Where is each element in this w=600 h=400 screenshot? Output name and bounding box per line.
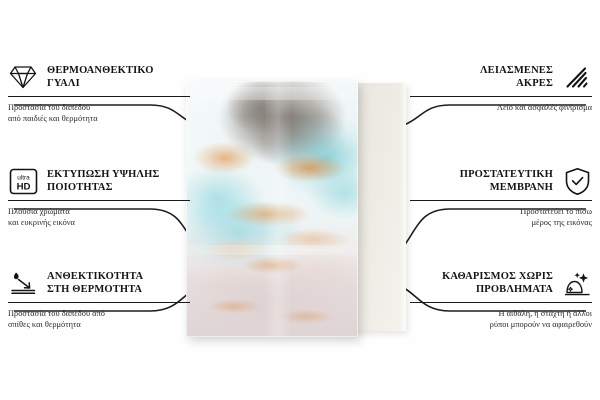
feature-divider xyxy=(410,302,592,303)
feature-high-quality-print: ultra HD ΕΚΤΥΠΩΣΗ ΥΨΗΛΗΣ ΠΟΙΟΤΗΤΑΣ Πλούσ… xyxy=(8,166,190,228)
glass-edge-highlight xyxy=(186,81,358,337)
easy-clean-icon xyxy=(562,268,592,298)
feature-header: ultra HD ΕΚΤΥΠΩΣΗ ΥΨΗΛΗΣ ΠΟΙΟΤΗΤΑΣ xyxy=(8,166,190,196)
feature-divider xyxy=(8,302,190,303)
feature-header: ΘΕΡΜΟΑΝΘΕΚΤΙΚΟ ΓΥΑΛΙ xyxy=(8,62,190,92)
feature-description: Προστατεύει το πίσω μέρος της εικόνας xyxy=(410,206,592,228)
polished-edges-icon xyxy=(562,62,592,92)
feature-heat-resistance: ΑΝΘΕΚΤΙΚΟΤΗΤΑ ΣΤΗ ΘΕΡΜΟΤΗΤΑ Προστασία το… xyxy=(8,268,190,330)
feature-easy-cleaning: ΚΑΘΑΡΙΣΜΟΣ ΧΩΡΙΣ ΠΡΟΒΛΗΜΑΤΑ Η αιθάλη, η … xyxy=(410,268,592,330)
feature-title: ΕΚΤΥΠΩΣΗ ΥΨΗΛΗΣ ΠΟΙΟΤΗΤΑΣ xyxy=(47,168,159,194)
infographic-canvas: ΘΕΡΜΟΑΝΘΕΚΤΙΚΟ ΓΥΑΛΙ Προστασία του δαπέδ… xyxy=(0,0,600,400)
feature-divider xyxy=(8,96,190,97)
panel-front-glass xyxy=(186,81,358,337)
feature-title: ΛΕΙΑΣΜΕΝΕΣ ΑΚΡΕΣ xyxy=(480,64,553,90)
feature-heat-resistant-glass: ΘΕΡΜΟΑΝΘΕΚΤΙΚΟ ΓΥΑΛΙ Προστασία του δαπέδ… xyxy=(8,62,190,124)
feature-header: ΚΑΘΑΡΙΣΜΟΣ ΧΩΡΙΣ ΠΡΟΒΛΗΜΑΤΑ xyxy=(410,268,592,298)
product-image xyxy=(186,81,416,347)
feature-divider xyxy=(8,200,190,201)
feature-title: ΚΑΘΑΡΙΣΜΟΣ ΧΩΡΙΣ ΠΡΟΒΛΗΜΑΤΑ xyxy=(442,270,553,296)
feature-title: ΠΡΟΣΤΑΤΕΥΤΙΚΗ ΜΕΜΒΡΑΝΗ xyxy=(460,168,553,194)
feature-header: ΑΝΘΕΚΤΙΚΟΤΗΤΑ ΣΤΗ ΘΕΡΜΟΤΗΤΑ xyxy=(8,268,190,298)
diamond-icon xyxy=(8,62,38,92)
feature-title: ΑΝΘΕΚΤΙΚΟΤΗΤΑ ΣΤΗ ΘΕΡΜΟΤΗΤΑ xyxy=(47,270,143,296)
feature-description: Προστασία του δαπέδου από σπίθες και θερ… xyxy=(8,308,190,330)
feature-description: Η αιθάλη, η στάχτη ή άλλοι ρύποι μπορούν… xyxy=(410,308,592,330)
feature-divider xyxy=(410,96,592,97)
feature-header: ΠΡΟΣΤΑΤΕΥΤΙΚΗ ΜΕΜΒΡΑΝΗ xyxy=(410,166,592,196)
ultra-hd-icon: ultra HD xyxy=(8,166,38,196)
feature-description: Πλούσια χρώματα και ευκρινής εικόνα xyxy=(8,206,190,228)
feature-title: ΘΕΡΜΟΑΝΘΕΚΤΙΚΟ ΓΥΑΛΙ xyxy=(47,64,154,90)
feature-protective-membrane: ΠΡΟΣΤΑΤΕΥΤΙΚΗ ΜΕΜΒΡΑΝΗ Προστατεύει το πί… xyxy=(410,166,592,228)
feature-description: Λείο και ασφαλές φινίρισμα xyxy=(410,102,592,113)
feature-description: Προστασία του δαπέδου από παιδιές και θε… xyxy=(8,102,190,124)
feature-header: ΛΕΙΑΣΜΕΝΕΣ ΑΚΡΕΣ xyxy=(410,62,592,92)
feature-divider xyxy=(410,200,592,201)
heat-resistance-icon xyxy=(8,268,38,298)
svg-text:HD: HD xyxy=(16,181,30,192)
feature-polished-edges: ΛΕΙΑΣΜΕΝΕΣ ΑΚΡΕΣ Λείο και ασφαλές φινίρι… xyxy=(410,62,592,113)
shield-check-icon xyxy=(562,166,592,196)
